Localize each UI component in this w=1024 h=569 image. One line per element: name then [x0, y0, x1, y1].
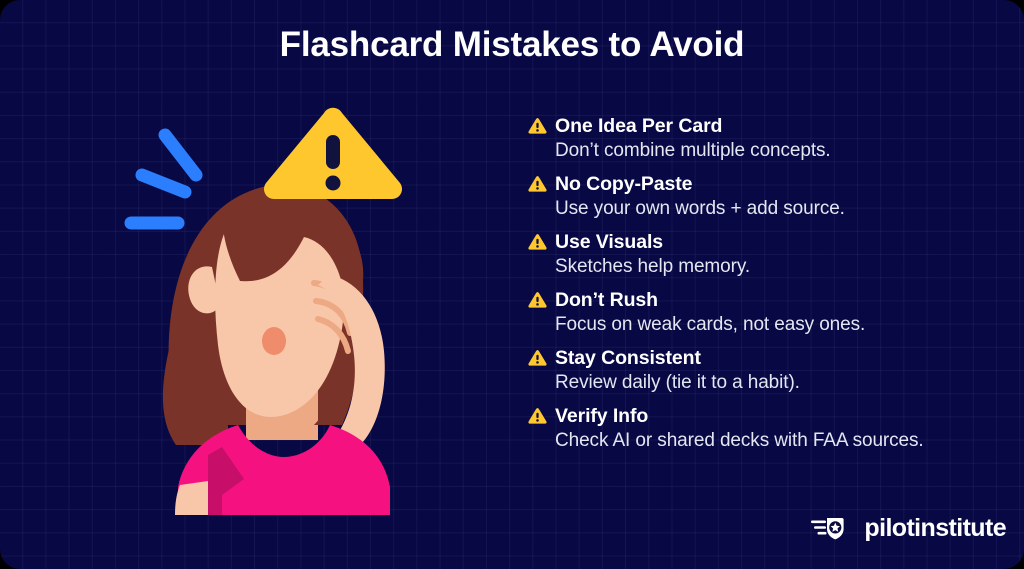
- list-item-head: One Idea Per Card: [528, 114, 988, 138]
- warning-triangle-icon: [528, 117, 547, 135]
- list-item-desc: Review daily (tie it to a habit).: [555, 370, 988, 395]
- page-title: Flashcard Mistakes to Avoid: [0, 23, 1024, 67]
- list-item: No Copy-Paste Use your own words + add s…: [528, 172, 988, 221]
- list-item-desc: Use your own words + add source.: [555, 196, 988, 221]
- warning-triangle-icon: [528, 349, 547, 367]
- hair-back-lower: [163, 335, 228, 445]
- warning-triangle-icon: [528, 291, 547, 309]
- list-item: One Idea Per Card Don’t combine multiple…: [528, 114, 988, 163]
- illustration-frustrated-woman: [118, 95, 438, 515]
- list-item-head: No Copy-Paste: [528, 172, 988, 196]
- list-item-head: Verify Info: [528, 404, 988, 428]
- brand-logo-text: pilotinstitute: [864, 514, 1006, 542]
- warning-triangle-icon: [528, 233, 547, 251]
- list-item-desc: Don’t combine multiple concepts.: [555, 138, 988, 163]
- winged-shield-star-icon: [811, 514, 855, 542]
- list-item-desc: Focus on weak cards, not easy ones.: [555, 312, 988, 337]
- brand-logo: pilotinstitute: [811, 514, 1006, 542]
- infographic-poster: Flashcard Mistakes to Avoid: [0, 0, 1024, 569]
- mouth: [262, 327, 286, 355]
- left-arm: [175, 481, 208, 515]
- list-item-desc: Check AI or shared decks with FAA source…: [555, 428, 988, 453]
- list-item: Use Visuals Sketches help memory.: [528, 230, 988, 279]
- list-item: Don’t Rush Focus on weak cards, not easy…: [528, 288, 988, 337]
- warning-triangle-icon: [264, 108, 402, 199]
- list-item-head: Don’t Rush: [528, 288, 988, 312]
- warning-triangle-icon: [528, 175, 547, 193]
- list-item-title: No Copy-Paste: [555, 172, 692, 196]
- motion-lines-icon: [131, 135, 196, 223]
- list-item: Stay Consistent Review daily (tie it to …: [528, 346, 988, 395]
- list-item-title: Use Visuals: [555, 230, 663, 254]
- list-item-desc: Sketches help memory.: [555, 254, 988, 279]
- list-item-title: Verify Info: [555, 404, 648, 428]
- list-item-title: Stay Consistent: [555, 346, 701, 370]
- list-item: Verify Info Check AI or shared decks wit…: [528, 404, 988, 453]
- list-item-title: One Idea Per Card: [555, 114, 722, 138]
- list-item-title: Don’t Rush: [555, 288, 658, 312]
- warning-triangle-icon: [528, 407, 547, 425]
- mistakes-list: One Idea Per Card Don’t combine multiple…: [528, 114, 988, 462]
- list-item-head: Stay Consistent: [528, 346, 988, 370]
- list-item-head: Use Visuals: [528, 230, 988, 254]
